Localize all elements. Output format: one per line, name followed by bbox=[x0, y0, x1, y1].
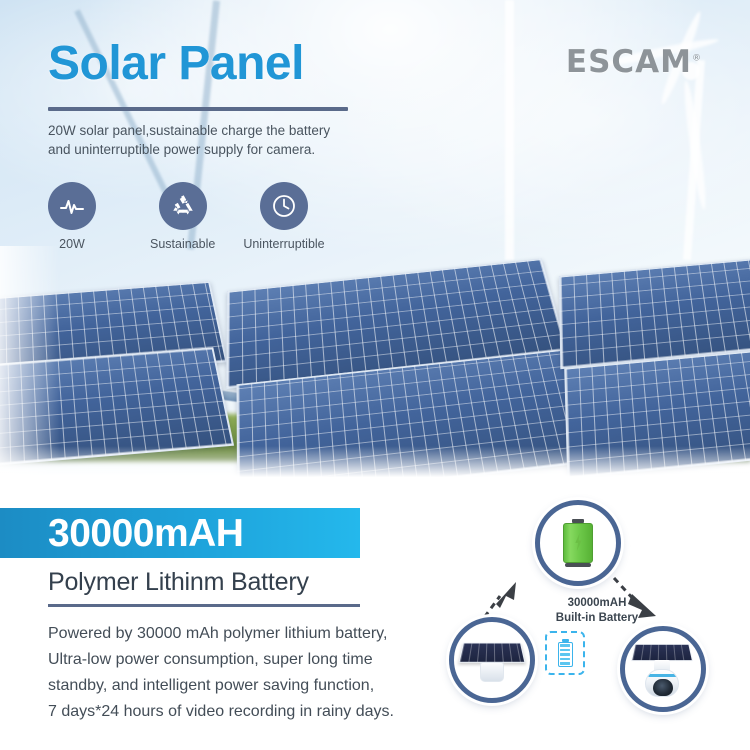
hero-subtitle-line-1: 20W solar panel,sustainable charge the b… bbox=[48, 121, 468, 140]
solar-panel-surface bbox=[459, 643, 526, 663]
battery-description-line-4: 7 days*24 hours of video recording in ra… bbox=[48, 699, 448, 725]
battery-base bbox=[565, 563, 591, 567]
battery-heading-divider bbox=[48, 604, 360, 607]
camera-dome bbox=[645, 669, 679, 697]
feature-spacer-one bbox=[96, 182, 150, 251]
battery-bar bbox=[560, 644, 570, 646]
hero-subtitle-line-2: and uninterruptible power supply for cam… bbox=[48, 140, 468, 159]
capacity-value: 30000mAH bbox=[48, 514, 243, 553]
solar-camera-icon bbox=[631, 640, 695, 698]
registered-trademark-icon: ® bbox=[692, 54, 702, 64]
brand-logo-text: ESCAM bbox=[566, 44, 692, 80]
hero-subtitle: 20W solar panel,sustainable charge the b… bbox=[48, 121, 468, 159]
battery-heading: Polymer Lithinm Battery bbox=[48, 568, 309, 597]
turbine-mast-center bbox=[505, 0, 514, 260]
diagram-label: 30000mAH Built-in Battery bbox=[532, 596, 662, 626]
solar-panel-node bbox=[449, 617, 535, 703]
product-marketing-page: Solar Panel 20W solar panel,sustainable … bbox=[0, 0, 750, 750]
recycle-icon bbox=[170, 193, 196, 219]
feature-item-sustainable: Sustainable bbox=[150, 182, 215, 251]
camera-accent-stripe bbox=[648, 674, 678, 677]
feature-spacer-two bbox=[215, 182, 243, 251]
battery-node bbox=[535, 500, 621, 586]
page-title: Solar Panel bbox=[48, 40, 304, 88]
battery-shell bbox=[563, 523, 593, 563]
feature-item-20w: 20W bbox=[48, 182, 96, 251]
battery-description-line-1: Powered by 30000 mAh polymer lithium bat… bbox=[48, 621, 448, 647]
small-battery-body bbox=[558, 642, 573, 667]
battery-bar bbox=[560, 653, 570, 655]
title-divider bbox=[48, 107, 348, 111]
feature-list: 20W bbox=[48, 182, 325, 251]
pulse-icon bbox=[58, 192, 86, 220]
battery-section: 30000mAH Polymer Lithinm Battery Powered… bbox=[0, 486, 750, 750]
feature-label-uninterruptible: Uninterruptible bbox=[243, 237, 324, 251]
battery-bar bbox=[560, 649, 570, 651]
battery-bar bbox=[560, 658, 570, 660]
clock-icon bbox=[270, 192, 298, 220]
feature-item-uninterruptible: Uninterruptible bbox=[243, 182, 324, 251]
builtin-battery-badge bbox=[545, 631, 585, 675]
battery-description-line-2: Ultra-low power consumption, super long … bbox=[48, 647, 448, 673]
camera-solar-panel bbox=[631, 644, 693, 661]
brand-logo: ESCAM® bbox=[566, 44, 702, 80]
battery-level-icon bbox=[558, 639, 573, 667]
battery-description: Powered by 30000 mAh polymer lithium bat… bbox=[48, 621, 448, 725]
hero-section: Solar Panel 20W solar panel,sustainable … bbox=[0, 0, 750, 486]
recycle-icon-circle bbox=[159, 182, 207, 230]
solar-panel-photo bbox=[0, 246, 750, 486]
feature-label-sustainable: Sustainable bbox=[150, 237, 215, 251]
camera-lens bbox=[653, 679, 673, 696]
clock-icon-circle bbox=[260, 182, 308, 230]
solar-panel-base bbox=[480, 662, 504, 682]
charging-battery-icon bbox=[563, 519, 593, 567]
battery-description-line-3: standby, and intelligent power saving fu… bbox=[48, 673, 448, 699]
battery-bar bbox=[560, 662, 570, 664]
photo-bottom-fade bbox=[0, 446, 750, 486]
camera-node bbox=[620, 626, 706, 712]
power-cycle-diagram: 30000mAH Built-in Battery bbox=[440, 486, 750, 750]
pulse-icon-circle bbox=[48, 182, 96, 230]
solar-panel-row-right-top bbox=[559, 256, 750, 369]
solar-panel-icon bbox=[461, 634, 523, 686]
diagram-label-line-2: Built-in Battery bbox=[532, 611, 662, 626]
diagram-label-line-1: 30000mAH bbox=[532, 596, 662, 611]
capacity-banner: 30000mAH bbox=[0, 508, 360, 558]
